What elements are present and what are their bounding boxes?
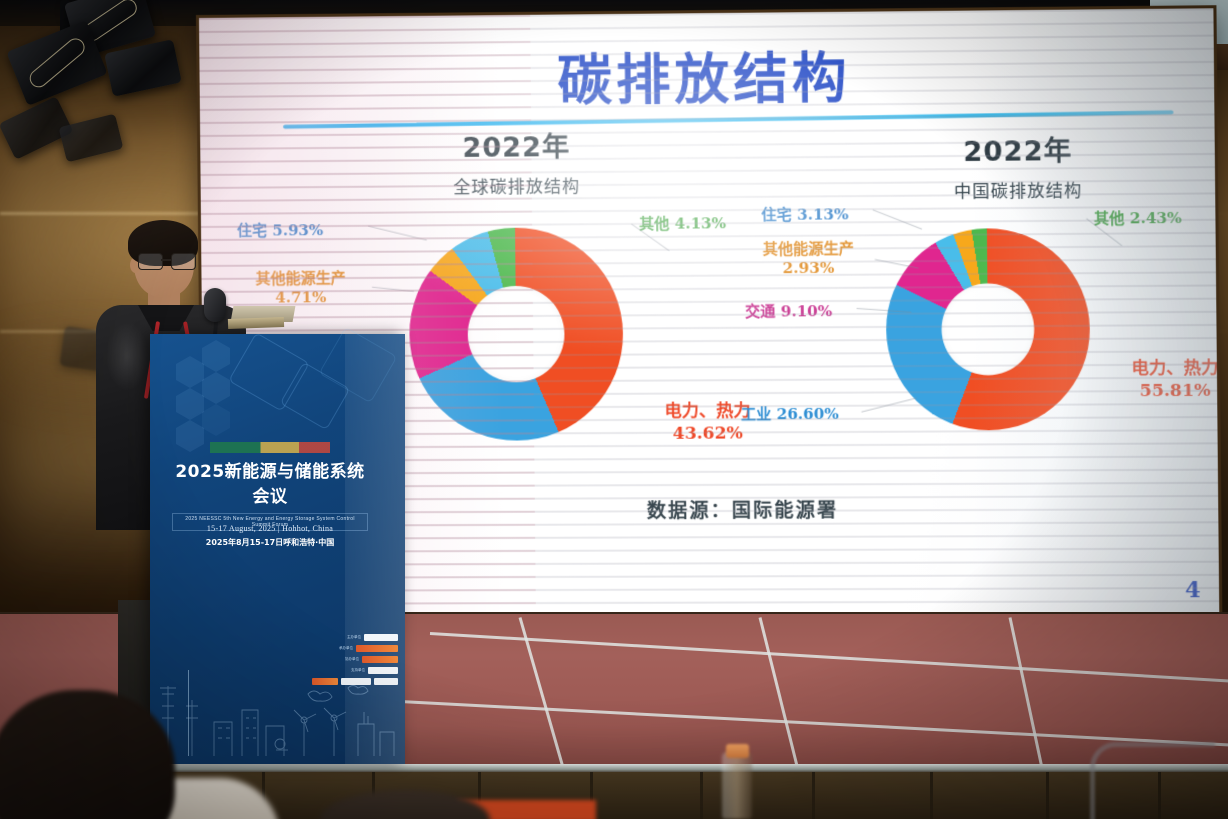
slide-page-number: 4 bbox=[1185, 577, 1201, 603]
event-date-en: 15-17 August, 2025 | Hohhot, China bbox=[172, 524, 368, 533]
chart-year-right: 2022年 bbox=[895, 128, 1140, 169]
sponsor-logo bbox=[356, 645, 398, 652]
donut-chart-china bbox=[885, 228, 1091, 431]
label-transport-right: 交通 9.10% bbox=[745, 302, 832, 322]
podium: 2025新能源与储能系统会议 2025 NEESSC 5th New Energ… bbox=[150, 334, 405, 764]
sponsor-row: 承办单位 bbox=[290, 645, 398, 652]
chart-year-left: 2022年 bbox=[395, 124, 637, 165]
event-date-cn: 2025年8月15-17日呼和浩特·中国 bbox=[172, 537, 368, 548]
glasses-bridge bbox=[161, 259, 171, 261]
donut-chart-global bbox=[408, 227, 624, 441]
glasses-lens bbox=[171, 253, 196, 270]
hexagon-icon bbox=[176, 388, 204, 420]
sponsor-caption: 主办单位 bbox=[347, 635, 361, 640]
label-other-right: 其他 2.43% bbox=[1094, 209, 1182, 229]
podium-dates: 15-17 August, 2025 | Hohhot, China 2025年… bbox=[172, 524, 368, 548]
leader-line bbox=[372, 287, 414, 292]
light-brand-icon bbox=[26, 35, 88, 91]
label-power-heat-right: 电力、热力 55.81% bbox=[1109, 358, 1219, 403]
glasses-lens bbox=[138, 253, 163, 270]
donut-hole bbox=[467, 286, 565, 383]
floor-seam bbox=[400, 700, 1228, 750]
chart-heading-left: 2022年 全球碳排放结构 bbox=[395, 124, 637, 198]
skyline-svg bbox=[158, 666, 398, 756]
leader-line bbox=[873, 209, 923, 229]
conference-photo: 碳排放结构 2022年 全球碳排放结构 2022年 中国碳排放结构 bbox=[0, 0, 1228, 819]
skirt-fold bbox=[700, 772, 703, 819]
microphone-icon bbox=[204, 288, 226, 322]
podium-branding: 2025新能源与储能系统会议 2025 NEESSC 5th New Energ… bbox=[172, 442, 368, 531]
glasses-icon bbox=[138, 253, 194, 268]
hexagon-icon bbox=[202, 340, 230, 372]
chart-heading-right: 2022年 中国碳排放结构 bbox=[895, 128, 1140, 203]
donut-ring bbox=[885, 228, 1091, 431]
label-industry-right: 工业 26.60% bbox=[741, 405, 839, 425]
label-other-energy-left: 其他能源生产 4.71% bbox=[231, 269, 370, 308]
hexagon-icon bbox=[202, 372, 230, 404]
podium-top-surface bbox=[228, 317, 284, 329]
label-residential-left: 住宅 5.93% bbox=[237, 221, 323, 241]
transmission-tower bbox=[188, 670, 189, 756]
event-title: 2025新能源与储能系统会议 bbox=[172, 457, 368, 507]
water-bottle bbox=[722, 752, 752, 819]
label-residential-right: 住宅 3.13% bbox=[761, 205, 848, 225]
skirt-fold bbox=[1046, 772, 1049, 819]
data-source-note: 数据源：国际能源署 bbox=[647, 495, 839, 523]
sponsor-caption: 协办单位 bbox=[345, 657, 359, 662]
hexagon-icon bbox=[176, 356, 204, 388]
donut-ring bbox=[408, 227, 624, 441]
water-bottle-cap bbox=[726, 744, 749, 758]
chart-subtitle-left: 全球碳排放结构 bbox=[396, 172, 638, 199]
sponsor-caption: 承办单位 bbox=[339, 646, 353, 651]
skirt-fold bbox=[812, 772, 815, 819]
presenter-shoulder-highlight bbox=[106, 321, 148, 391]
label-other-left: 其他 4.13% bbox=[639, 214, 726, 234]
hexagon-icon bbox=[202, 404, 230, 436]
donut-hole bbox=[941, 283, 1035, 375]
sponsor-logo bbox=[364, 634, 398, 641]
label-other-energy-right: 其他能源生产 2.93% bbox=[738, 239, 878, 279]
sponsor-row: 协办单位 bbox=[290, 656, 398, 663]
sponsor-row: 主办单位 bbox=[290, 634, 398, 641]
event-tag-bar bbox=[210, 442, 330, 453]
chart-subtitle-right: 中国碳排放结构 bbox=[896, 176, 1141, 203]
sponsor-logo bbox=[362, 656, 398, 663]
skirt-fold bbox=[930, 772, 933, 819]
chair-armrest bbox=[1090, 742, 1215, 819]
floor-seam bbox=[430, 632, 1228, 686]
slide-title: 碳排放结构 bbox=[199, 31, 1214, 119]
city-skyline-illustration bbox=[158, 666, 398, 756]
